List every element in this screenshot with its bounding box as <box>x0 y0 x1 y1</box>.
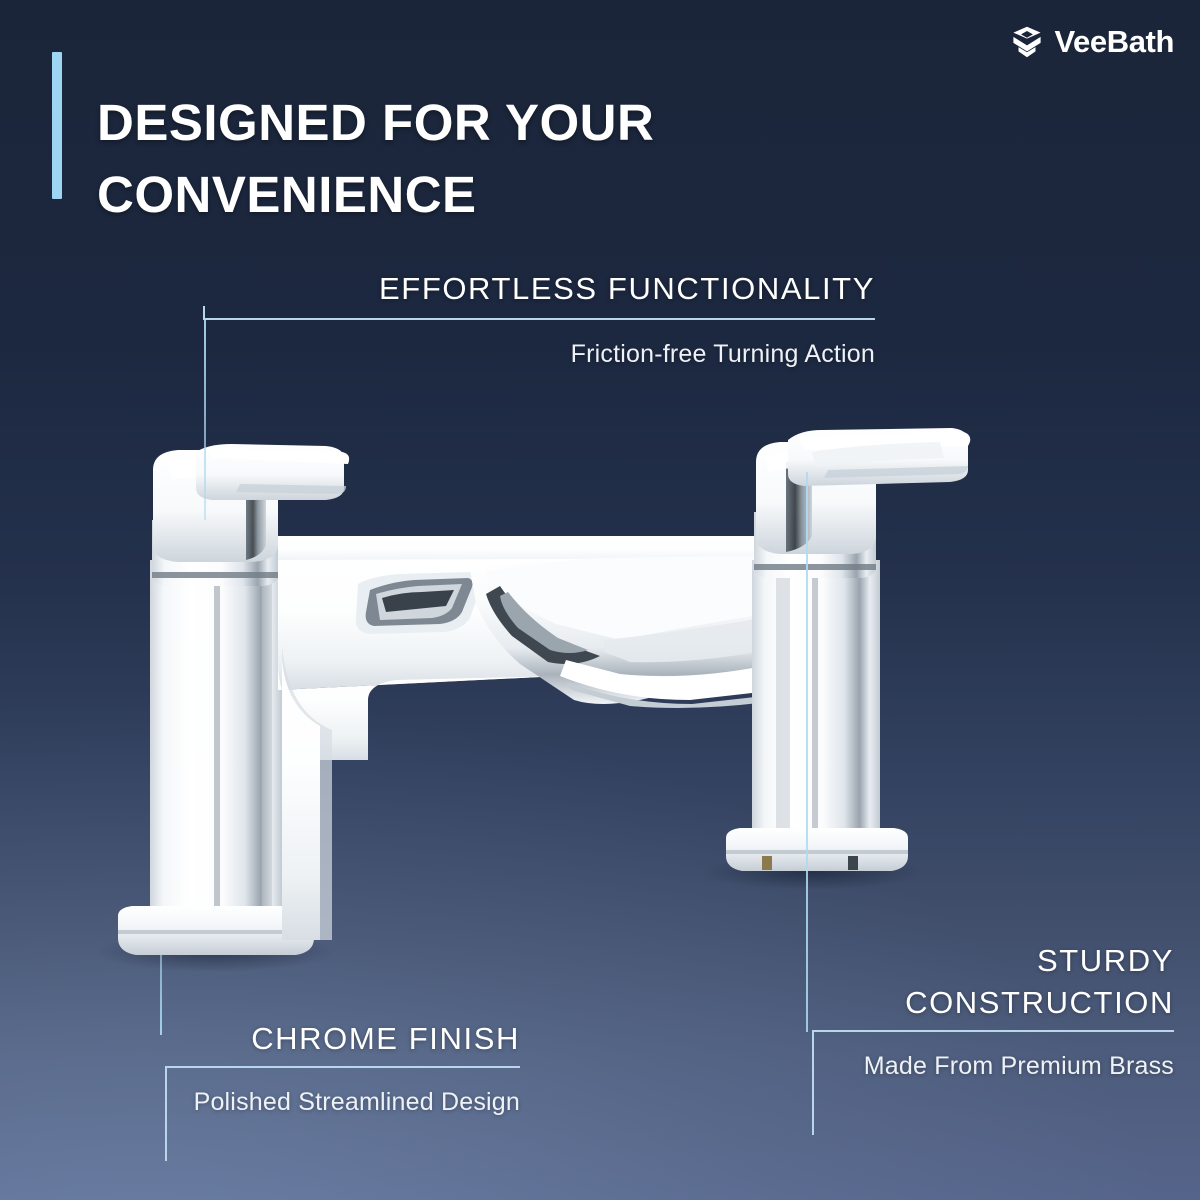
veebath-chevron-logo-icon <box>1010 25 1044 59</box>
infographic-canvas: DESIGNED FOR YOUR CONVENIENCE VeeBath EF… <box>0 0 1200 1200</box>
callout-title-sturdy: STURDY CONSTRUCTION <box>812 940 1174 1024</box>
callout-sturdy-construction: STURDY CONSTRUCTION Made From Premium Br… <box>812 940 1174 1084</box>
callout-subtitle-functionality: Friction-free Turning Action <box>203 336 875 372</box>
leader-line-chrome <box>160 955 162 1035</box>
callout-rule-sturdy <box>812 1030 1174 1032</box>
leader-line-sturdy <box>806 472 808 1032</box>
callout-rule-functionality <box>203 318 875 320</box>
callout-title-functionality: EFFORTLESS FUNCTIONALITY <box>203 268 875 310</box>
callout-chrome-finish: CHROME FINISH Polished Streamlined Desig… <box>165 1018 520 1120</box>
callout-title-chrome: CHROME FINISH <box>165 1018 520 1060</box>
callout-rule-chrome <box>165 1066 520 1068</box>
callout-subtitle-sturdy: Made From Premium Brass <box>812 1048 1174 1084</box>
brand-name: VeeBath <box>1054 24 1174 60</box>
callout-subtitle-chrome: Polished Streamlined Design <box>165 1084 520 1120</box>
page-title: DESIGNED FOR YOUR CONVENIENCE <box>97 87 837 231</box>
brand-logo: VeeBath <box>1010 24 1174 60</box>
callout-effortless-functionality: EFFORTLESS FUNCTIONALITY Friction-free T… <box>203 268 875 372</box>
headline-accent-bar <box>52 52 62 199</box>
